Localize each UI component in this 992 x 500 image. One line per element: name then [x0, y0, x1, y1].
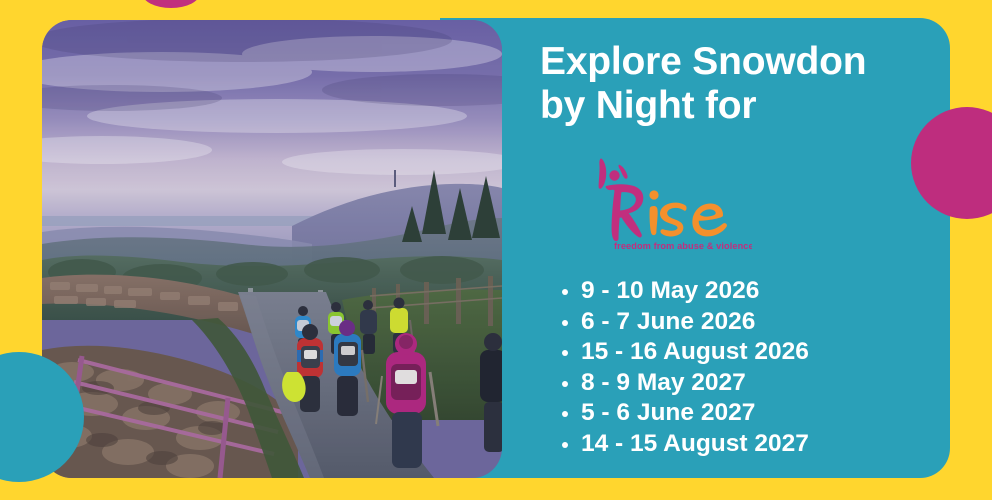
rise-logo: freedom from abuse & violence — [592, 153, 752, 253]
rise-logo-letter-r — [606, 184, 644, 241]
list-item: 9 - 10 May 2026 — [555, 276, 940, 307]
list-item: 15 - 16 August 2026 — [555, 337, 940, 368]
rise-logo-figure — [599, 159, 628, 189]
list-item: 6 - 7 June 2026 — [555, 307, 940, 338]
headline-line-1: Explore Snowdon — [540, 40, 940, 84]
rise-logo-letters-ise — [649, 190, 727, 236]
promo-banner: Explore Snowdon by Night for — [0, 0, 992, 500]
rise-logo-tagline: freedom from abuse & violence — [614, 241, 752, 251]
list-item: 14 - 15 August 2027 — [555, 429, 940, 460]
list-item: 8 - 9 May 2027 — [555, 368, 940, 399]
hikers-photo — [42, 20, 502, 478]
headline-line-2: by Night for — [540, 84, 940, 128]
page-title: Explore Snowdon by Night for — [540, 40, 940, 127]
teal-content-panel: Explore Snowdon by Night for — [440, 18, 950, 478]
panel-content: Explore Snowdon by Night for — [540, 18, 940, 478]
list-item: 5 - 6 June 2027 — [555, 398, 940, 429]
event-date-list: 9 - 10 May 2026 6 - 7 June 2026 15 - 16 … — [555, 276, 940, 460]
decorative-circle-magenta-top — [142, 0, 200, 8]
